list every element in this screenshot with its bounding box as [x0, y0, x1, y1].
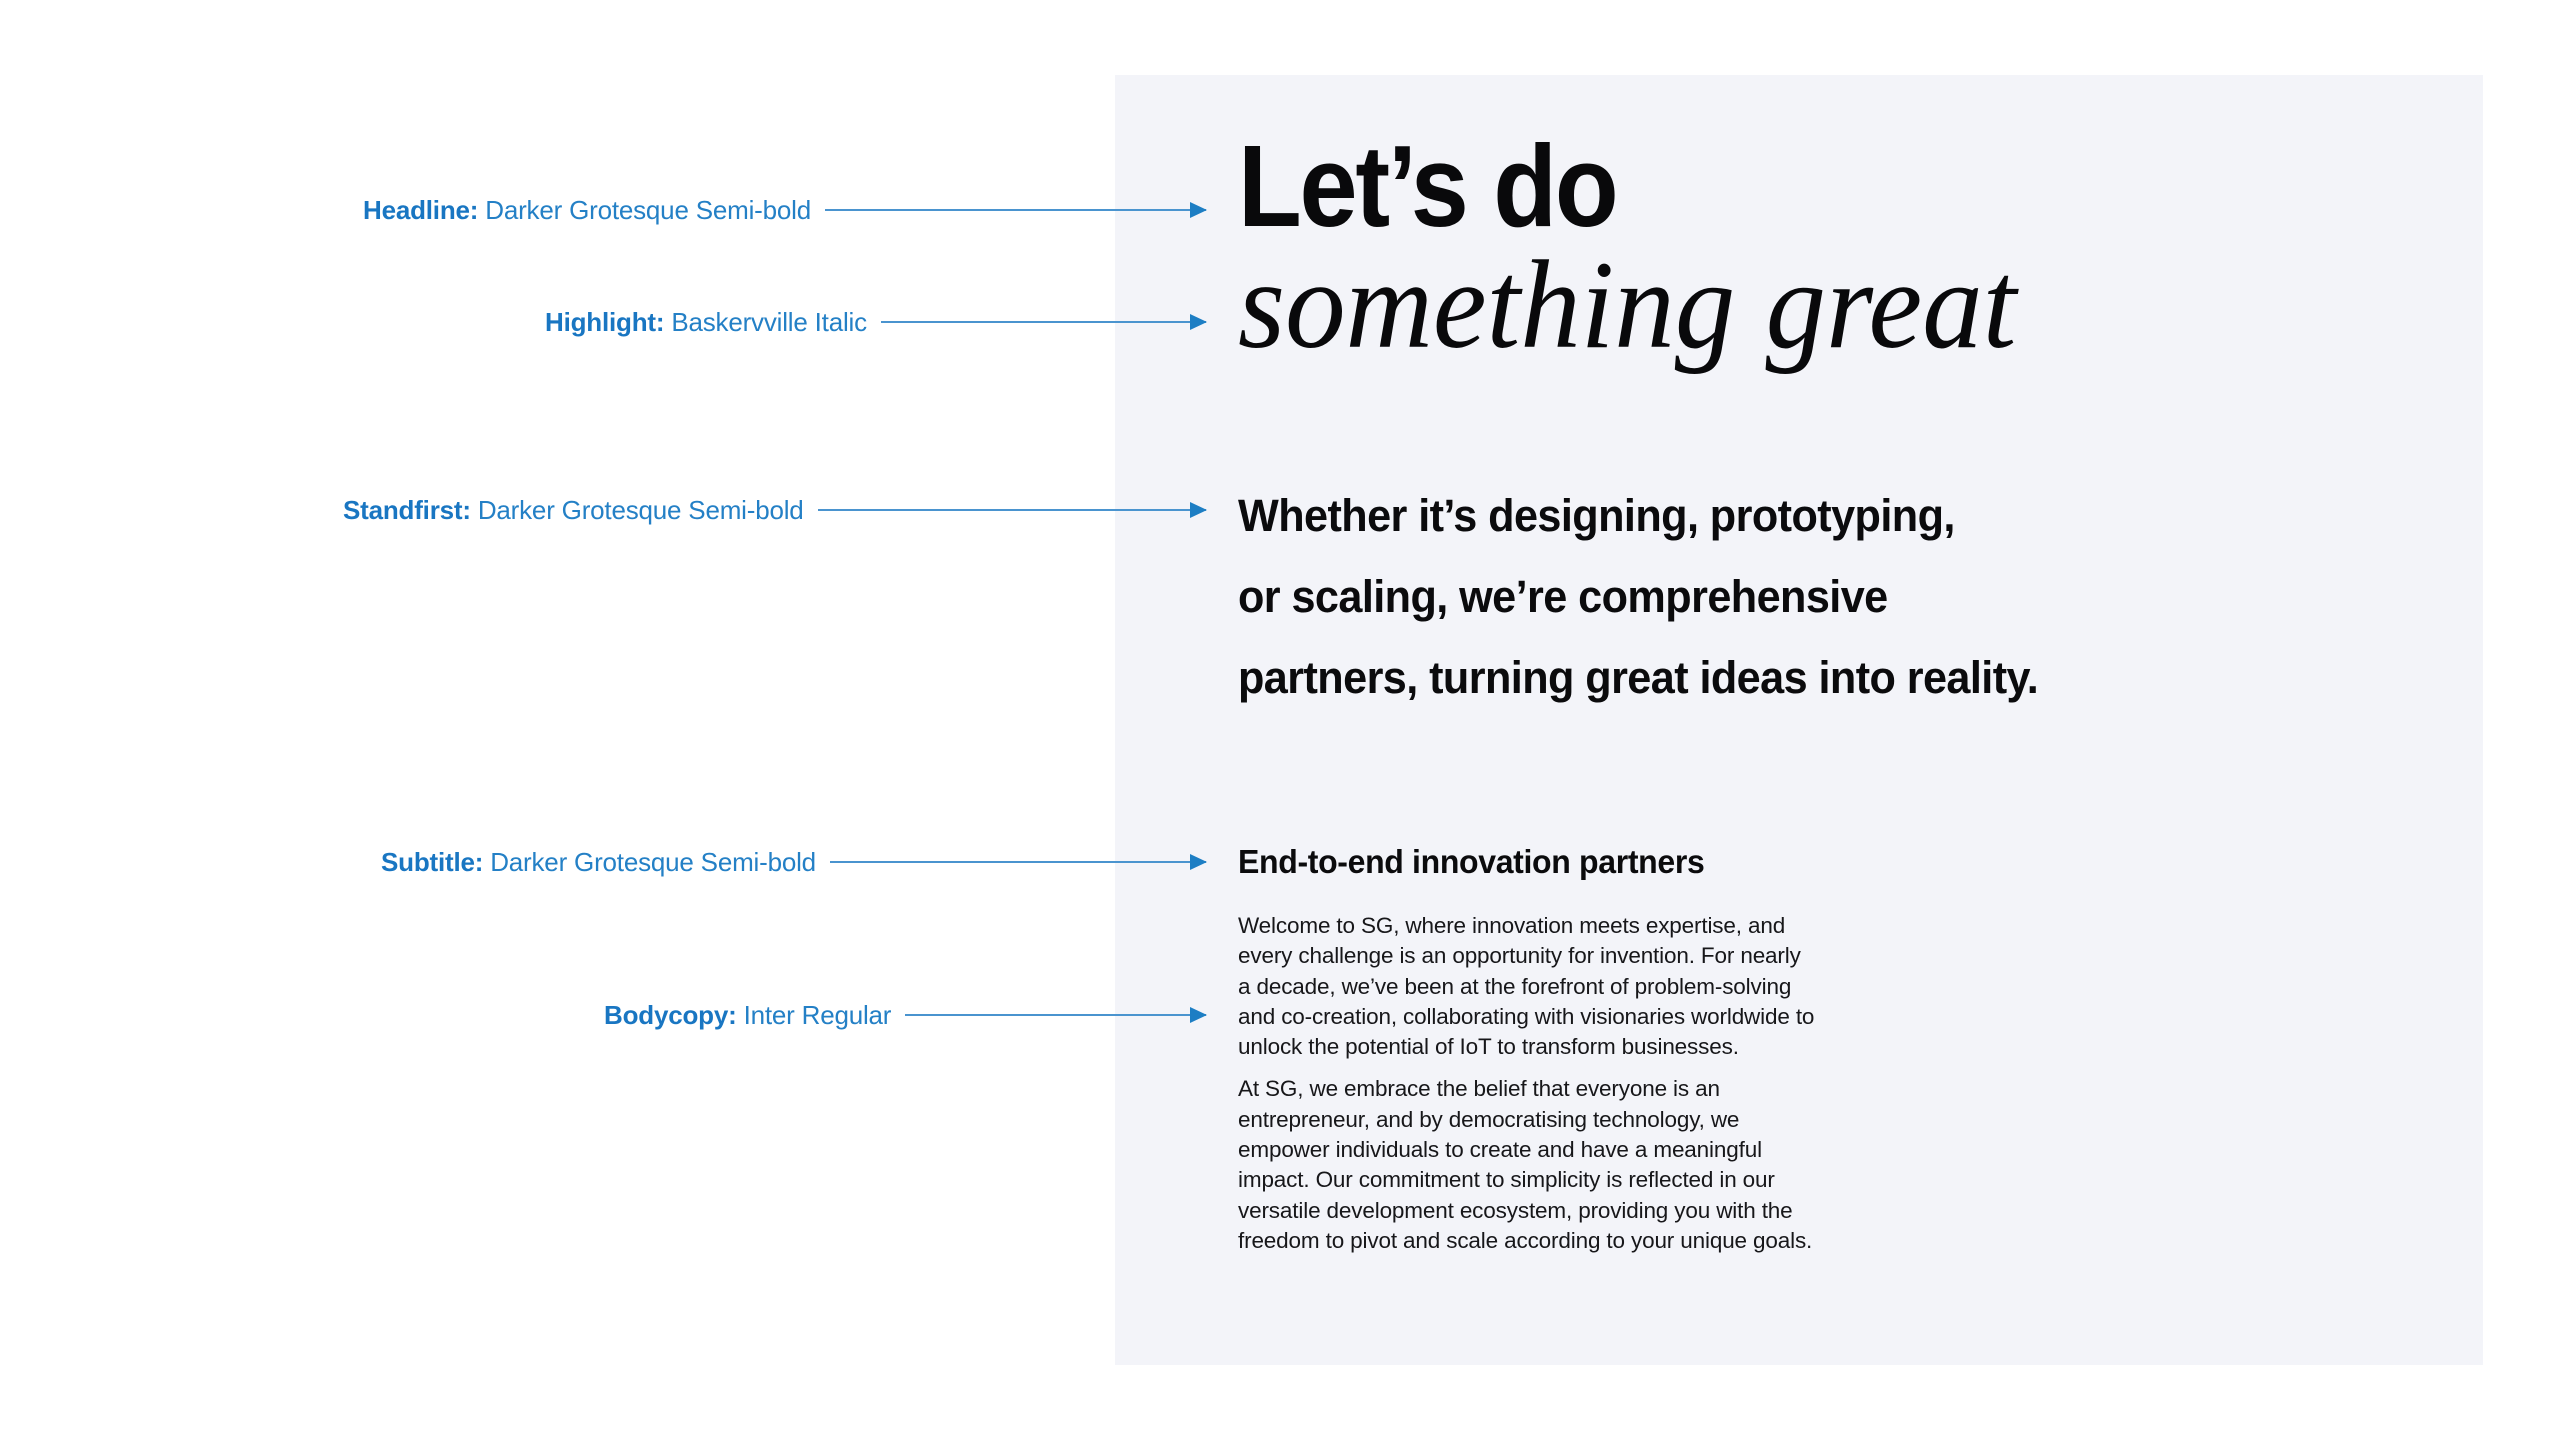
- standfirst-block: Whether it’s designing, prototyping, or …: [1238, 475, 2323, 718]
- subtitle-text: End-to-end innovation partners: [1238, 842, 1704, 882]
- leader-arrow-icon: [818, 509, 1206, 511]
- annotation-bodycopy: Bodycopy: Inter Regular: [604, 995, 1206, 1035]
- annotation-headline-label: Headline: Darker Grotesque Semi-bold: [363, 190, 811, 230]
- leader-arrow-icon: [881, 321, 1206, 323]
- specimen-panel: Let’s do something great Whether it’s de…: [1115, 75, 2483, 1365]
- annotation-standfirst-term: Standfirst:: [343, 495, 471, 525]
- standfirst-line-3: partners, turning great ideas into reali…: [1238, 637, 2323, 718]
- leader-arrow-icon: [830, 861, 1206, 863]
- bodycopy-paragraph-1: Welcome to SG, where innovation meets ex…: [1238, 911, 1818, 1062]
- annotation-subtitle-value: Darker Grotesque Semi-bold: [483, 847, 816, 877]
- annotation-highlight-label: Highlight: Baskervville Italic: [545, 302, 867, 342]
- annotation-headline: Headline: Darker Grotesque Semi-bold: [363, 190, 1206, 230]
- leader-arrow-icon: [825, 209, 1206, 211]
- annotation-subtitle: Subtitle: Darker Grotesque Semi-bold: [381, 842, 1206, 882]
- annotation-bodycopy-label: Bodycopy: Inter Regular: [604, 995, 891, 1035]
- annotation-bodycopy-term: Bodycopy:: [604, 1000, 737, 1030]
- annotation-standfirst: Standfirst: Darker Grotesque Semi-bold: [343, 490, 1206, 530]
- headline-block: Let’s do something great: [1238, 130, 2049, 368]
- bodycopy-block: Welcome to SG, where innovation meets ex…: [1238, 911, 1818, 1256]
- annotation-headline-value: Darker Grotesque Semi-bold: [478, 195, 811, 225]
- bodycopy-paragraph-2: At SG, we embrace the belief that everyo…: [1238, 1074, 1818, 1256]
- standfirst-line-2: or scaling, we’re comprehensive: [1238, 556, 2323, 637]
- annotation-bodycopy-value: Inter Regular: [737, 1000, 892, 1030]
- typography-specimen-page: Let’s do something great Whether it’s de…: [0, 0, 2560, 1440]
- annotation-subtitle-label: Subtitle: Darker Grotesque Semi-bold: [381, 842, 816, 882]
- annotation-standfirst-label: Standfirst: Darker Grotesque Semi-bold: [343, 490, 804, 530]
- annotation-highlight-value: Baskervville Italic: [664, 307, 867, 337]
- annotation-subtitle-term: Subtitle:: [381, 847, 483, 877]
- annotation-highlight-term: Highlight:: [545, 307, 664, 337]
- standfirst-line-1: Whether it’s designing, prototyping,: [1238, 475, 2323, 556]
- leader-arrow-icon: [905, 1014, 1206, 1016]
- headline-line-1: Let’s do: [1238, 130, 1968, 242]
- annotation-highlight: Highlight: Baskervville Italic: [545, 302, 1206, 342]
- annotation-standfirst-value: Darker Grotesque Semi-bold: [471, 495, 804, 525]
- headline-highlight-line: something great: [1238, 244, 2016, 368]
- annotation-headline-term: Headline:: [363, 195, 478, 225]
